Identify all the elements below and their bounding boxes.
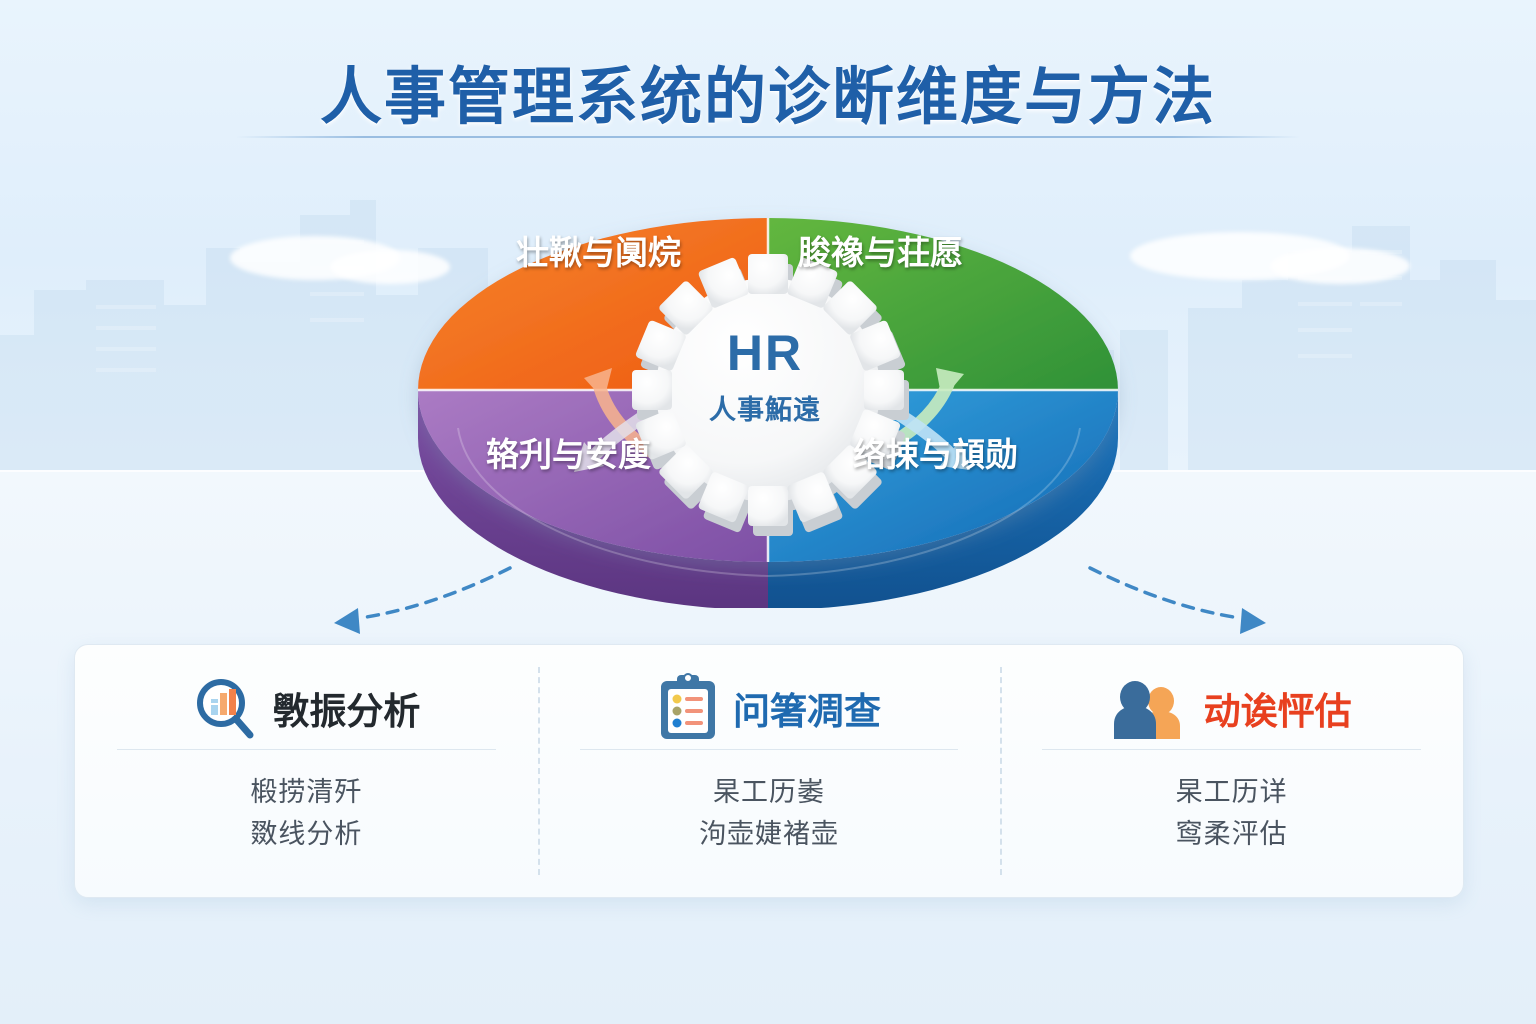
method-line: 杲工历详: [1024, 772, 1439, 814]
method-title: 问箸凋查: [733, 681, 881, 735]
method-line: 敪线分析: [99, 814, 514, 856]
method-column-interview[interactable]: 动诶怦估 杲工历详 窎柔泙估: [1000, 645, 1463, 897]
method-title: 动诶怦估: [1204, 681, 1352, 735]
method-body: 杲工历详 窎柔泙估: [1024, 750, 1439, 856]
method-column-data-analysis[interactable]: 斆振分析 椴捞清歼 敪线分析: [75, 645, 538, 897]
method-line: 泃壶婕褚壶: [562, 814, 977, 856]
method-line: 椴捞清歼: [99, 772, 514, 814]
gear-primary-label: HR: [645, 328, 885, 378]
method-body: 杲工历崣 泃壶婕褚壶: [562, 750, 977, 856]
quadrant-label-top-right: 朘襐与荘愿: [798, 226, 963, 274]
method-title: 斆振分析: [272, 681, 420, 735]
clipboard-checklist-icon: [657, 673, 719, 743]
quadrant-label-bottom-left: 辂刋与安廋: [486, 428, 651, 476]
method-column-questionnaire[interactable]: 问箸凋查 杲工历崣 泃壶婕褚壶: [538, 645, 1001, 897]
quadrant-label-top-left: 壮鞦与阒烷: [516, 226, 681, 274]
page-title-wrap: 人事管理系统的诊断维度与方法: [0, 46, 1536, 136]
gear-center-text: HR 人事鮖遠: [645, 292, 885, 492]
two-people-icon: [1112, 675, 1190, 741]
cloud-right-small: [1270, 248, 1410, 284]
method-body: 椴捞清歼 敪线分析: [99, 750, 514, 856]
page-title: 人事管理系统的诊断维度与方法: [0, 46, 1536, 136]
method-header: 斆振分析: [99, 671, 514, 745]
magnifier-bar-chart-icon: [192, 675, 258, 741]
infographic-canvas: 人事管理系统的诊断维度与方法: [0, 0, 1536, 1024]
title-underline: [236, 136, 1300, 138]
methods-panel: 斆振分析 椴捞清歼 敪线分析: [74, 644, 1464, 898]
method-header: 动诶怦估: [1024, 671, 1439, 745]
method-header: 问箸凋查: [562, 671, 977, 745]
method-line: 杲工历崣: [562, 772, 977, 814]
gear-secondary-label: 人事鮖遠: [645, 388, 885, 427]
method-line: 窎柔泙估: [1024, 814, 1439, 856]
